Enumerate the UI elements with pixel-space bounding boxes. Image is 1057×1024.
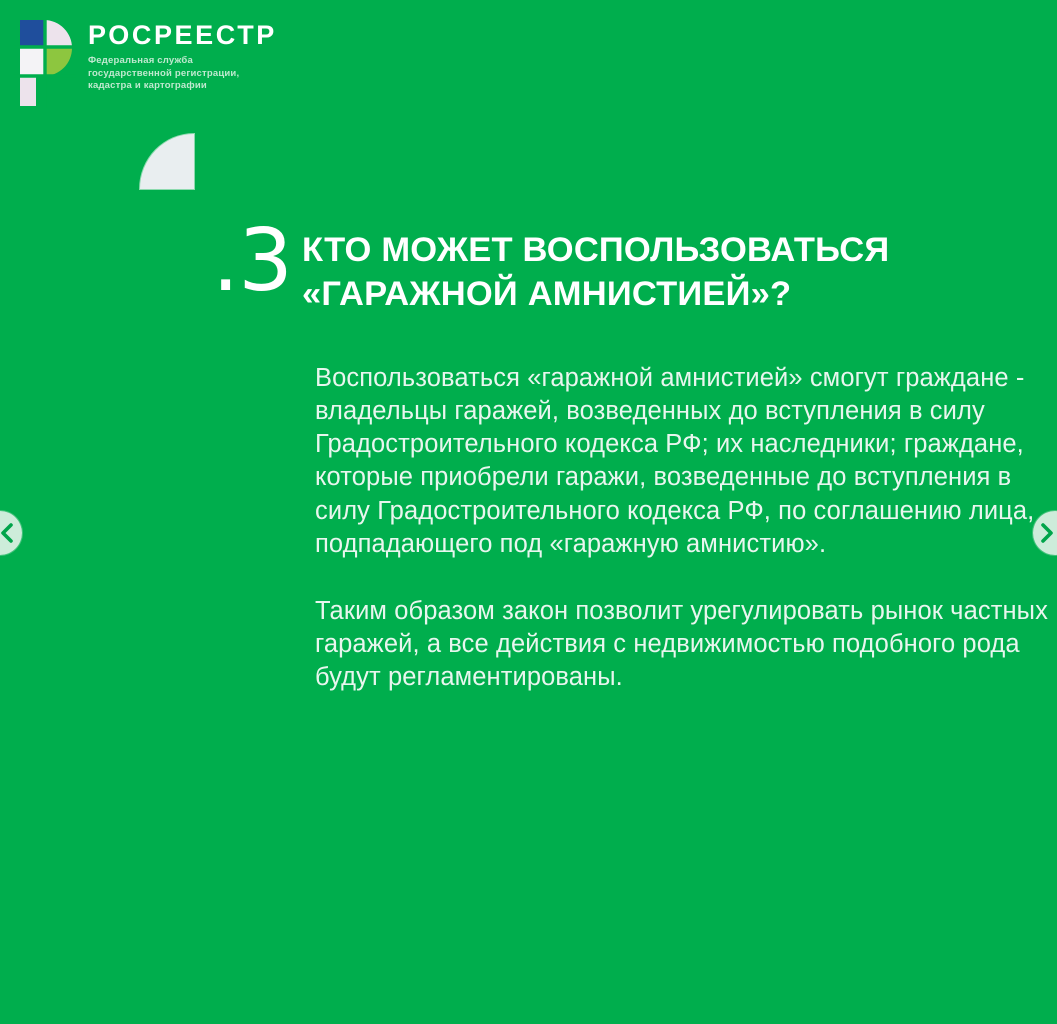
chevron-right-icon (1038, 523, 1056, 543)
headline-line-1: КТО МОЖЕТ ВОСПОЛЬЗОВАТЬСЯ (302, 228, 889, 272)
paragraph-1: Воспользоваться «гаражной амнистией» смо… (315, 362, 1055, 561)
brand-name: РОСРЕЕСТР (88, 22, 277, 49)
body-copy: Воспользоваться «гаражной амнистией» смо… (315, 362, 1055, 694)
brand-tagline-line-2: государственной регистрации, (88, 68, 263, 81)
slide-number: .3 (150, 222, 302, 302)
headline-line-2: «ГАРАЖНОЙ АМНИСТИЕЙ»? (302, 272, 889, 316)
page-title: КТО МОЖЕТ ВОСПОЛЬЗОВАТЬСЯ «ГАРАЖНОЙ АМНИ… (302, 222, 889, 316)
brand-tagline-line-1: Федеральная служба (88, 55, 263, 68)
brand-tagline-line-3: кадастра и картографии (88, 80, 263, 93)
carousel-prev-button[interactable] (0, 511, 22, 555)
quarter-circle-shape-icon (140, 134, 194, 189)
brand-logo: РОСРЕЕСТР Федеральная служба государстве… (14, 18, 277, 108)
rosreestr-p-quadrant-logo-icon (14, 18, 76, 108)
paragraph-2: Таким образом закон позволит урегулирова… (315, 595, 1055, 694)
brand-tagline: Федеральная служба государственной регис… (88, 55, 263, 93)
brand-text-block: РОСРЕЕСТР Федеральная служба государстве… (88, 18, 277, 93)
chevron-left-icon (0, 523, 16, 543)
headline-block: .3 КТО МОЖЕТ ВОСПОЛЬЗОВАТЬСЯ «ГАРАЖНОЙ А… (150, 222, 1057, 316)
slide-root: РОСРЕЕСТР Федеральная служба государстве… (0, 0, 1057, 1024)
